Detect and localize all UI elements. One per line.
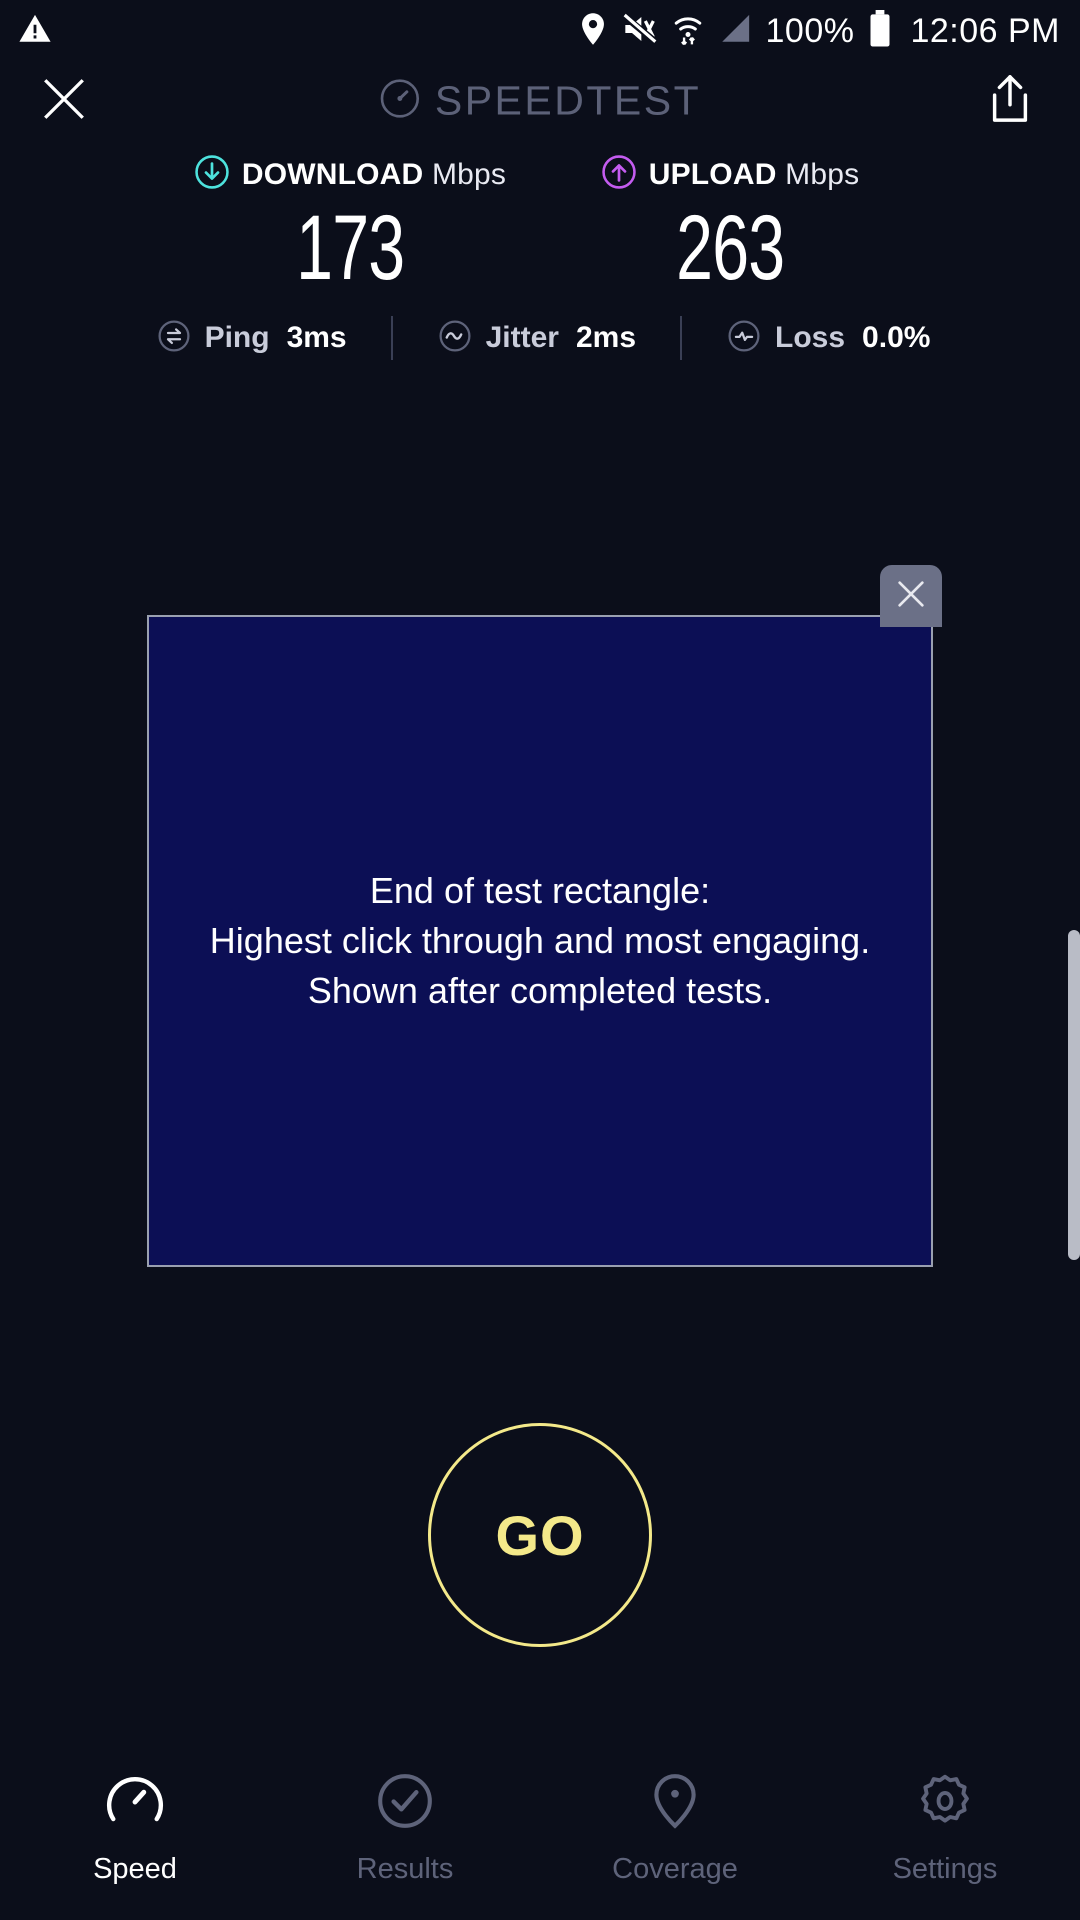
loss-value: 0.0% (862, 321, 930, 355)
speedometer-icon (379, 78, 421, 125)
jitter-value: 2ms (576, 321, 636, 355)
download-header: DOWNLOAD Mbps (194, 154, 506, 195)
nav-label-results: Results (357, 1853, 454, 1886)
brand: SPEEDTEST (379, 78, 701, 125)
nav-label-speed: Speed (93, 1853, 177, 1886)
jitter-label: Jitter (486, 321, 559, 355)
wifi-transfer-icon (672, 12, 704, 51)
loss-metric: Loss 0.0% (726, 318, 930, 359)
ad-text: End of test rectangle: Highest click thr… (210, 866, 870, 1015)
jitter-wave-icon (437, 318, 473, 359)
ping-exchange-icon (156, 318, 192, 359)
ad-close-button[interactable] (880, 565, 942, 627)
nav-label-settings: Settings (893, 1853, 998, 1886)
ad-line-1: End of test rectangle: (210, 866, 870, 916)
go-button[interactable]: GO (428, 1423, 652, 1647)
gear-icon (914, 1770, 976, 1837)
download-arrow-icon (194, 154, 230, 195)
upload-unit: Mbps (785, 158, 859, 191)
volume-mute-icon (622, 13, 658, 50)
scrollbar[interactable] (1068, 930, 1080, 1260)
share-icon (988, 74, 1032, 129)
divider (391, 316, 393, 360)
ping-label: Ping (205, 321, 270, 355)
close-button[interactable] (36, 73, 92, 129)
nav-item-results[interactable]: Results (270, 1770, 540, 1886)
close-icon (39, 74, 89, 129)
download-upload-row: DOWNLOAD Mbps 173 UPLOAD Mbps 263 (0, 140, 1080, 292)
download-metric: DOWNLOAD Mbps 173 (160, 154, 540, 292)
speedometer-icon (104, 1770, 166, 1837)
ping-value: 3ms (287, 321, 347, 355)
status-bar-left (0, 12, 52, 51)
ad-close-icon (894, 577, 928, 616)
nav-item-settings[interactable]: Settings (810, 1770, 1080, 1886)
go-button-label: GO (495, 1503, 584, 1568)
results-panel: DOWNLOAD Mbps 173 UPLOAD Mbps 263 (0, 140, 1080, 360)
divider (680, 316, 682, 360)
download-label: DOWNLOAD Mbps (242, 158, 506, 192)
download-value: 173 (296, 205, 404, 292)
location-pin-icon (644, 1770, 706, 1837)
ad-line-3: Shown after completed tests. (210, 966, 870, 1016)
upload-label: UPLOAD Mbps (649, 158, 860, 192)
app-header: SPEEDTEST (0, 62, 1080, 140)
upload-metric: UPLOAD Mbps 263 (540, 154, 920, 292)
battery-full-icon (868, 10, 892, 53)
warning-triangle-icon (18, 12, 52, 51)
status-bar-clock: 12:06 PM (910, 12, 1060, 51)
upload-header: UPLOAD Mbps (601, 154, 860, 195)
battery-percent-label: 100% (766, 12, 855, 51)
ad-banner[interactable]: End of test rectangle: Highest click thr… (147, 615, 933, 1267)
check-circle-icon (374, 1770, 436, 1837)
nav-label-coverage: Coverage (612, 1853, 738, 1886)
nav-item-speed[interactable]: Speed (0, 1770, 270, 1886)
jitter-metric: Jitter 2ms (437, 318, 636, 359)
download-unit: Mbps (432, 158, 506, 191)
ping-jitter-loss-row: Ping 3ms Jitter 2ms Loss 0.0 (0, 316, 1080, 360)
bottom-navigation: Speed Results Coverage Settings (0, 1756, 1080, 1920)
upload-arrow-icon (601, 154, 637, 195)
share-button[interactable] (982, 70, 1038, 132)
ad-line-2: Highest click through and most engaging. (210, 916, 870, 966)
loss-pulse-icon (726, 318, 762, 359)
status-bar: 100% 12:06 PM (0, 0, 1080, 62)
nav-item-coverage[interactable]: Coverage (540, 1770, 810, 1886)
location-pin-icon (578, 12, 608, 51)
status-bar-right: 100% 12:06 PM (578, 10, 1080, 53)
cell-signal-icon (718, 13, 752, 50)
loss-label: Loss (775, 321, 845, 355)
ping-metric: Ping 3ms (156, 318, 347, 359)
upload-value: 263 (676, 205, 784, 292)
brand-title: SPEEDTEST (435, 78, 701, 125)
